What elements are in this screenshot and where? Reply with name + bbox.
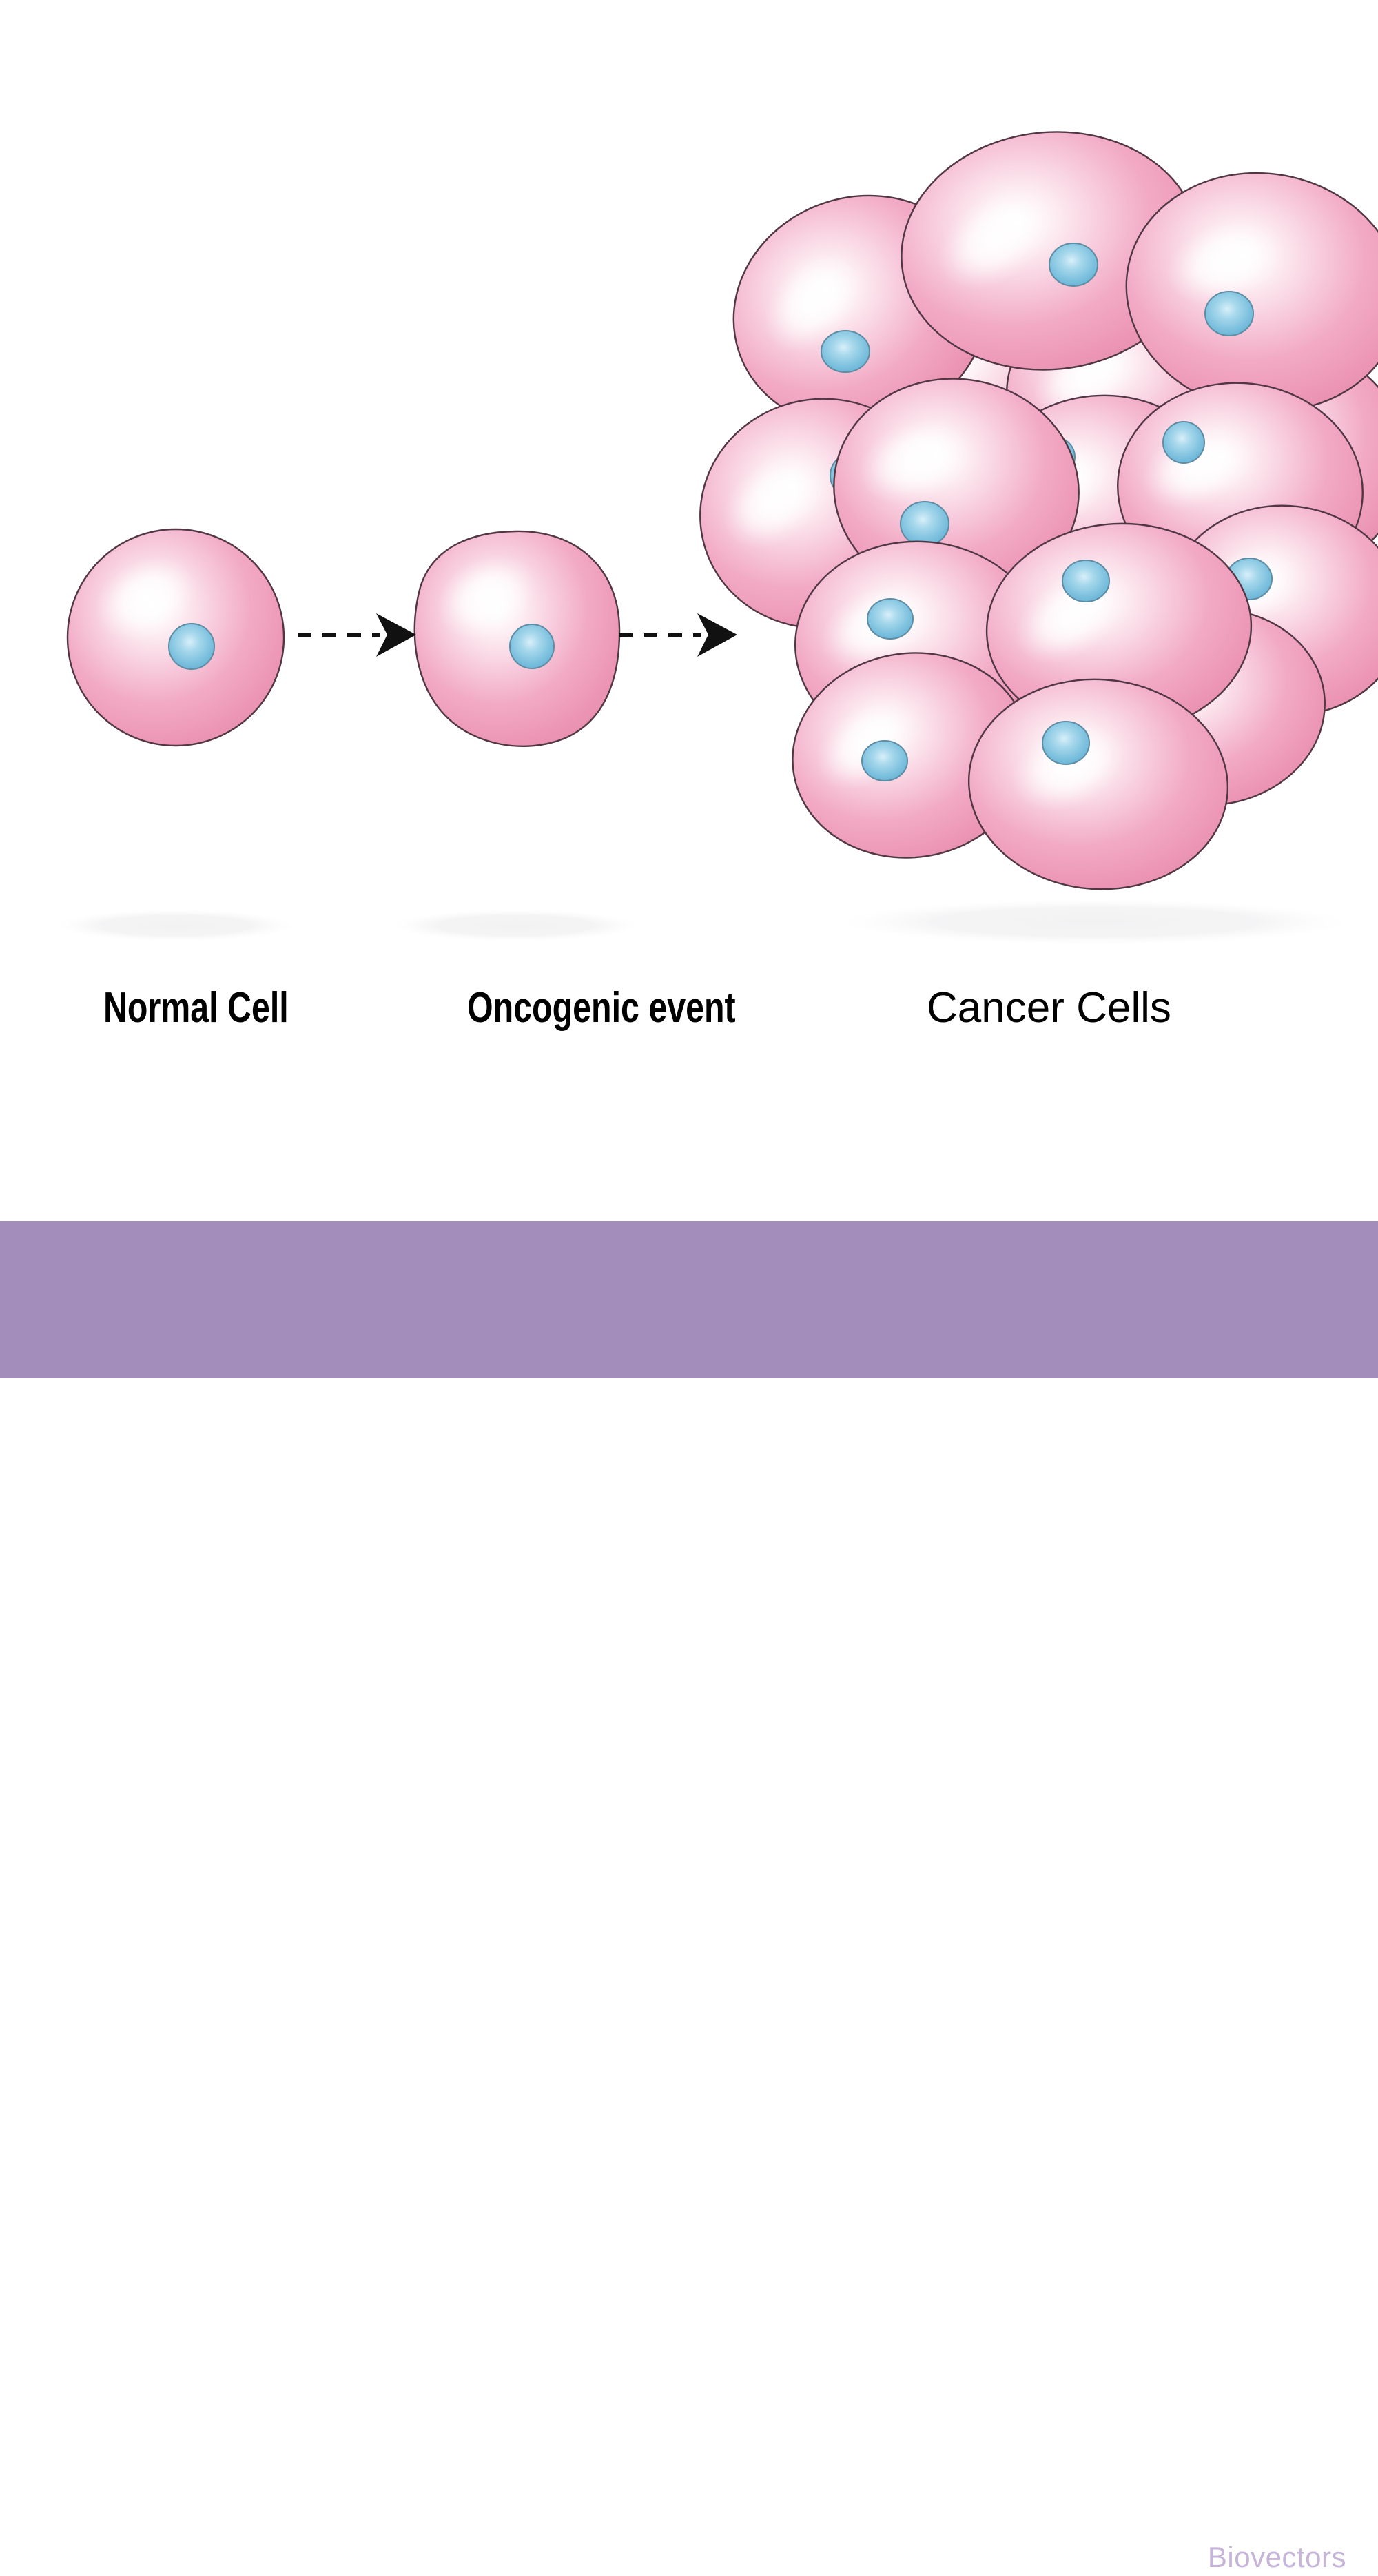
cancer-cell-cluster[interactable] xyxy=(682,117,1378,897)
nucleus xyxy=(1042,722,1089,764)
nucleus xyxy=(901,502,949,546)
illustration-canvas: Normal Cell Oncogenic event Cancer Cells… xyxy=(0,0,1378,1378)
cell-transition-figure xyxy=(0,0,1378,1378)
nucleus xyxy=(862,741,907,781)
shadow-cancer-cluster xyxy=(842,899,1349,945)
footer-title: Normal to Cancer cell transition xyxy=(124,2493,967,2572)
nucleus xyxy=(1062,560,1109,602)
footer-credit: Biovectors xyxy=(1208,2543,1346,2572)
arrow-head-icon xyxy=(697,613,737,657)
transition-arrow-1 xyxy=(298,613,416,657)
nucleus xyxy=(1163,422,1204,463)
label-oncogenic-event: Oncogenic event xyxy=(467,987,736,1030)
footer-banner: Normal to Cancer cell transition Biovect… xyxy=(0,1221,1378,1378)
label-cancer-cells: Cancer Cells xyxy=(927,987,1171,1030)
nucleus xyxy=(169,624,214,669)
ground-shadows xyxy=(57,899,1349,945)
label-normal-cell: Normal Cell xyxy=(103,987,289,1030)
shadow-oncogenic-cell xyxy=(393,910,638,941)
nucleus xyxy=(510,624,554,668)
shadow-normal-cell xyxy=(57,910,294,941)
nucleus xyxy=(1049,243,1098,286)
arrow-head-icon xyxy=(376,613,416,657)
normal-cell[interactable] xyxy=(68,529,284,746)
nucleus xyxy=(821,331,870,372)
transition-arrow-2 xyxy=(619,613,737,657)
nucleus xyxy=(1205,292,1253,336)
oncogenic-cell[interactable] xyxy=(415,531,619,746)
nucleus xyxy=(867,599,913,639)
